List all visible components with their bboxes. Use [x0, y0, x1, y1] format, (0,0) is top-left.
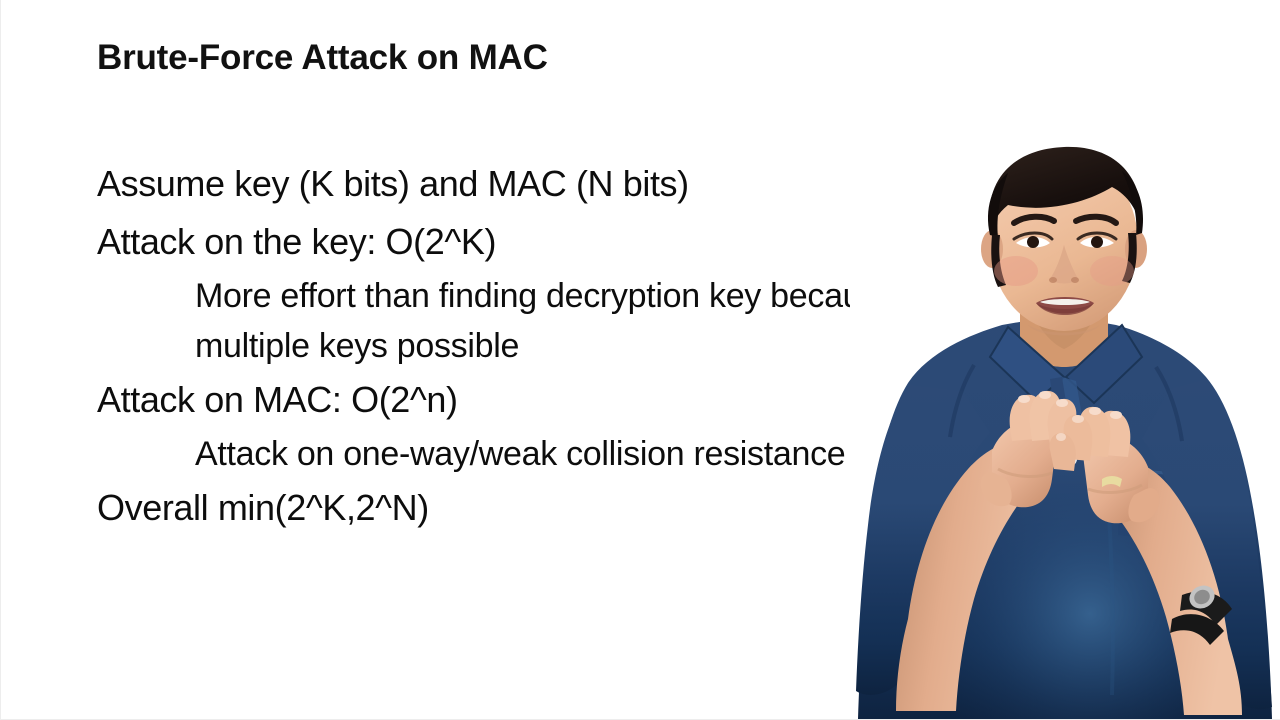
page-title: Brute-Force Attack on MAC [97, 38, 548, 78]
slide-canvas: Brute-Force Attack on MAC Assume key (K … [0, 0, 1280, 720]
sub-bullet-item: More effort than finding decryption key … [195, 271, 917, 371]
neck [1020, 257, 1108, 367]
presenter-head [981, 147, 1147, 336]
wristwatch [1170, 581, 1232, 645]
sub-bullet-item: Attack on one-way/weak collision resista… [195, 429, 917, 479]
collar-button-top [1058, 401, 1070, 413]
hair [989, 147, 1142, 235]
bullet-item: Overall min(2^K,2^N) [97, 479, 917, 537]
polo-collar [990, 325, 1142, 466]
slide-body: Assume key (K bits) and MAC (N bits) Att… [97, 155, 917, 537]
presenter-right-arm [1050, 379, 1272, 715]
bullet-item: Attack on MAC: O(2^n) [97, 371, 917, 429]
bullet-item: Assume key (K bits) and MAC (N bits) [97, 155, 917, 213]
collar-button-bottom [1063, 452, 1077, 466]
bullet-item: Attack on the key: O(2^K) [97, 213, 917, 271]
polo-shirt [858, 315, 1272, 719]
